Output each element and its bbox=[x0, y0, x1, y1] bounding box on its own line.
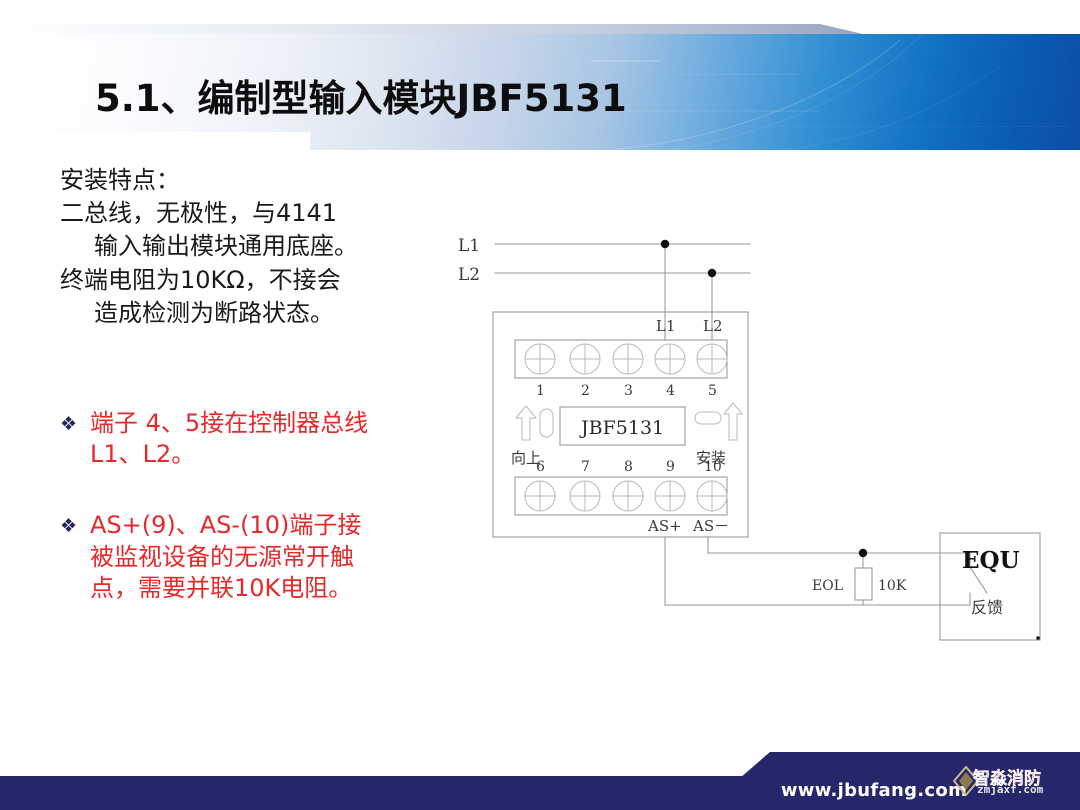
mount-arrow-icon bbox=[695, 403, 742, 440]
label-tap-l2: L2 bbox=[703, 317, 723, 335]
label-bus-l1: L1 bbox=[458, 236, 480, 256]
bullet-list: ❖ 端子 4、5接在控制器总线 L1、L2。 ❖ AS+(9)、AS-(10)端… bbox=[60, 408, 460, 644]
terminal-number-2: 2 bbox=[581, 383, 590, 399]
junction-dot-l2 bbox=[708, 269, 716, 277]
orientation-arrow-icon bbox=[516, 406, 553, 440]
header-white-notch bbox=[0, 132, 310, 160]
text-line-2: 输入输出模块通用底座。 bbox=[60, 231, 460, 262]
bullet-text-0: 端子 4、5接在控制器总线 L1、L2。 bbox=[90, 408, 368, 470]
terminal-number-4: 4 bbox=[666, 383, 675, 399]
junction-dot-eol bbox=[859, 549, 867, 557]
list-item: ❖ AS+(9)、AS-(10)端子接 被监视设备的无源常开触 点，需要并联10… bbox=[60, 510, 460, 604]
terminal-number-3: 3 bbox=[624, 383, 633, 399]
label-tap-l1: L1 bbox=[656, 317, 676, 335]
equipment-title: EQU bbox=[962, 547, 1020, 574]
terminal-number-8: 8 bbox=[624, 459, 633, 475]
terminal-screws-top bbox=[525, 344, 727, 374]
diagram-labels: L1 L2 L1 L2 1 2 3 4 5 6 7 8 9 10 JBF5131… bbox=[458, 236, 1020, 617]
mount-label: 安装 bbox=[696, 449, 726, 467]
terminal-screws-bottom bbox=[525, 481, 727, 511]
terminal-number-9: 9 bbox=[666, 459, 675, 475]
text-line-3: 终端电阻为10KΩ，不接会 bbox=[60, 265, 460, 296]
diamond-bullet-icon: ❖ bbox=[60, 510, 90, 539]
junction-dot-l1 bbox=[661, 240, 669, 248]
slide-root: 5.1、编制型输入模块JBF5131 安装特点： 二总线，无极性，与4141 输… bbox=[0, 0, 1080, 810]
terminal-number-7: 7 bbox=[581, 459, 590, 475]
corner-dot-equ bbox=[1036, 636, 1040, 640]
junction-dots bbox=[661, 240, 1040, 640]
text-line-0: 安装特点： bbox=[60, 165, 460, 196]
resistor-value-label: 10K bbox=[878, 578, 907, 594]
watermark: 智淼消防 zmjaxf.com bbox=[955, 762, 1073, 804]
text-line-4: 造成检测为断路状态。 bbox=[60, 298, 460, 329]
equipment-subtitle: 反馈 bbox=[971, 598, 1003, 617]
diamond-bullet-icon: ❖ bbox=[60, 408, 90, 437]
orientation-label: 向上 bbox=[511, 449, 541, 467]
resistor-name-label: EOL bbox=[812, 578, 843, 594]
wiring-diagram: L1 L2 L1 L2 1 2 3 4 5 6 7 8 9 10 JBF5131… bbox=[450, 215, 1070, 665]
module-model-label: JBF5131 bbox=[579, 417, 664, 439]
eol-resistor-body bbox=[855, 568, 872, 600]
terminal-number-1: 1 bbox=[536, 383, 545, 399]
install-features-text: 安装特点： 二总线，无极性，与4141 输入输出模块通用底座。 终端电阻为10K… bbox=[60, 165, 460, 331]
label-as-plus: AS+ bbox=[647, 517, 682, 535]
label-bus-l2: L2 bbox=[458, 265, 480, 285]
watermark-domain: zmjaxf.com bbox=[977, 783, 1043, 796]
label-as-minus: AS－ bbox=[692, 517, 729, 535]
bullet-text-1: AS+(9)、AS-(10)端子接 被监视设备的无源常开触 点，需要并联10K电… bbox=[90, 510, 361, 604]
footer-url[interactable]: www.jbufang.com bbox=[781, 780, 967, 801]
text-line-1: 二总线，无极性，与4141 bbox=[60, 198, 460, 229]
page-title: 5.1、编制型输入模块JBF5131 bbox=[95, 68, 627, 122]
header-banner: 5.1、编制型输入模块JBF5131 bbox=[0, 0, 1080, 160]
terminal-number-5: 5 bbox=[708, 383, 717, 399]
list-item: ❖ 端子 4、5接在控制器总线 L1、L2。 bbox=[60, 408, 460, 470]
